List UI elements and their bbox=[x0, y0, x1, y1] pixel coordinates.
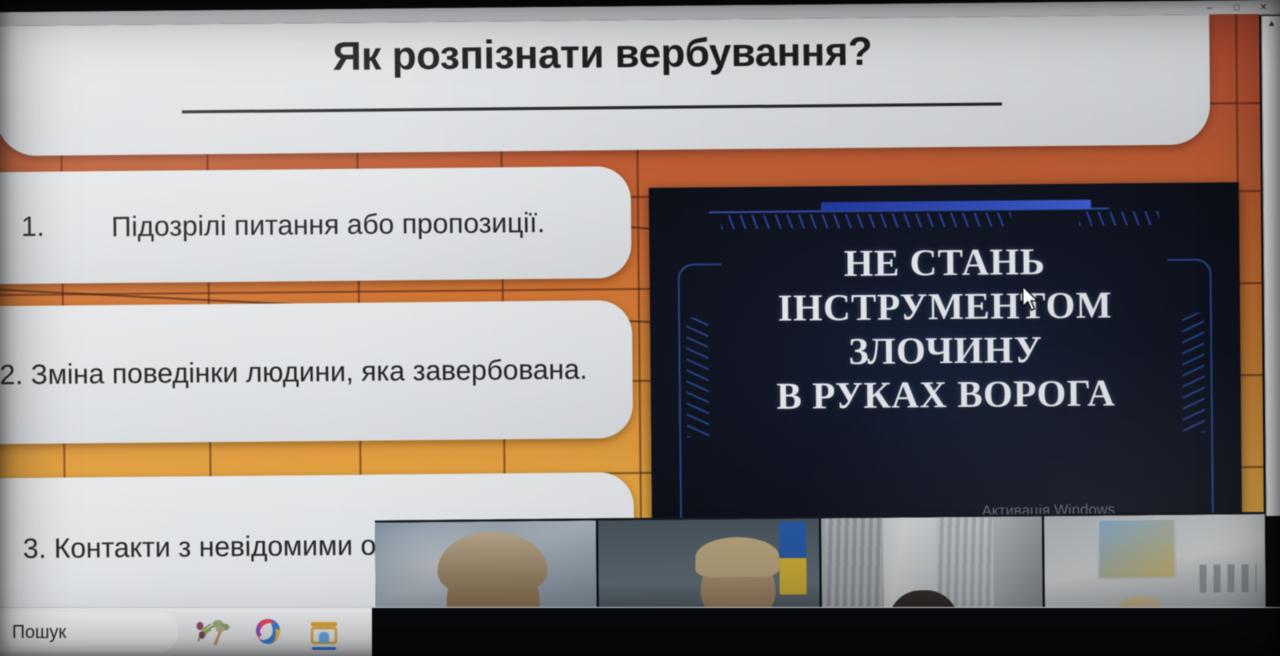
microsoft-365-copilot-icon[interactable] bbox=[248, 612, 288, 652]
list-item-body: Підозрілі питання або пропозиції. bbox=[0, 203, 599, 249]
minimize-button[interactable]: – bbox=[1204, 2, 1215, 12]
microsoft-store-icon[interactable] bbox=[304, 612, 344, 652]
list-item: 2. Зміна поведінки людини, яка завербова… bbox=[0, 300, 633, 444]
warning-poster: НЕ СТАНЬ ІНСТРУМЕНТОМ ЗЛОЧИНУ В РУКАХ ВО… bbox=[649, 182, 1242, 536]
taskbar-dark-area bbox=[372, 608, 1280, 656]
list-item-number: 2. bbox=[0, 359, 23, 390]
title-underline bbox=[182, 103, 1002, 114]
windows-taskbar: Пошук bbox=[0, 607, 1280, 656]
poster-line-3: ЗЛОЧИНУ bbox=[690, 327, 1200, 376]
list-item-text: 2. Зміна поведінки людини, яка завербова… bbox=[0, 350, 601, 396]
slide-title-card: Як розпізнати вербування? bbox=[0, 15, 1210, 157]
active-app-indicator bbox=[312, 647, 336, 650]
taskbar-icons bbox=[178, 608, 344, 656]
poster-line-4: В РУКАХ ВОРОГА bbox=[691, 371, 1201, 420]
list-item-body: Зміна поведінки людини, яка завербована. bbox=[31, 354, 588, 390]
vertical-scrollbar[interactable]: ▲ bbox=[1261, 16, 1280, 516]
hud-hatching bbox=[721, 212, 1011, 229]
monitor-surface: – □ ✕ Як розпізнати вербування? bbox=[0, 0, 1280, 632]
olive-bonsai-app-icon[interactable] bbox=[192, 612, 232, 652]
scroll-up-arrow-icon[interactable]: ▲ bbox=[1262, 18, 1280, 28]
close-button[interactable]: ✕ bbox=[1258, 2, 1269, 12]
mouse-cursor-icon bbox=[1022, 286, 1040, 312]
maximize-button[interactable]: □ bbox=[1231, 2, 1242, 12]
list-item-number: 1. bbox=[21, 207, 45, 247]
search-label: Пошук bbox=[0, 622, 66, 643]
list-item-text: 1. Підозрілі питання або пропозиції. bbox=[0, 203, 599, 249]
poster-line-2: ІНСТРУМЕНТОМ bbox=[690, 283, 1200, 332]
list-item-number: 3. bbox=[23, 533, 47, 564]
search-input[interactable]: Пошук bbox=[0, 612, 178, 652]
hud-hatching bbox=[1079, 211, 1159, 226]
window-controls[interactable]: – □ ✕ bbox=[1204, 0, 1269, 15]
page-title: Як розпізнати вербування? bbox=[0, 27, 1210, 84]
photographed-screen: – □ ✕ Як розпізнати вербування? bbox=[0, 0, 1280, 656]
poster-line-1: НЕ СТАНЬ bbox=[689, 239, 1199, 288]
list-item: 1. Підозрілі питання або пропозиції. bbox=[0, 166, 632, 284]
poster-text: НЕ СТАНЬ ІНСТРУМЕНТОМ ЗЛОЧИНУ В РУКАХ ВО… bbox=[689, 239, 1201, 420]
